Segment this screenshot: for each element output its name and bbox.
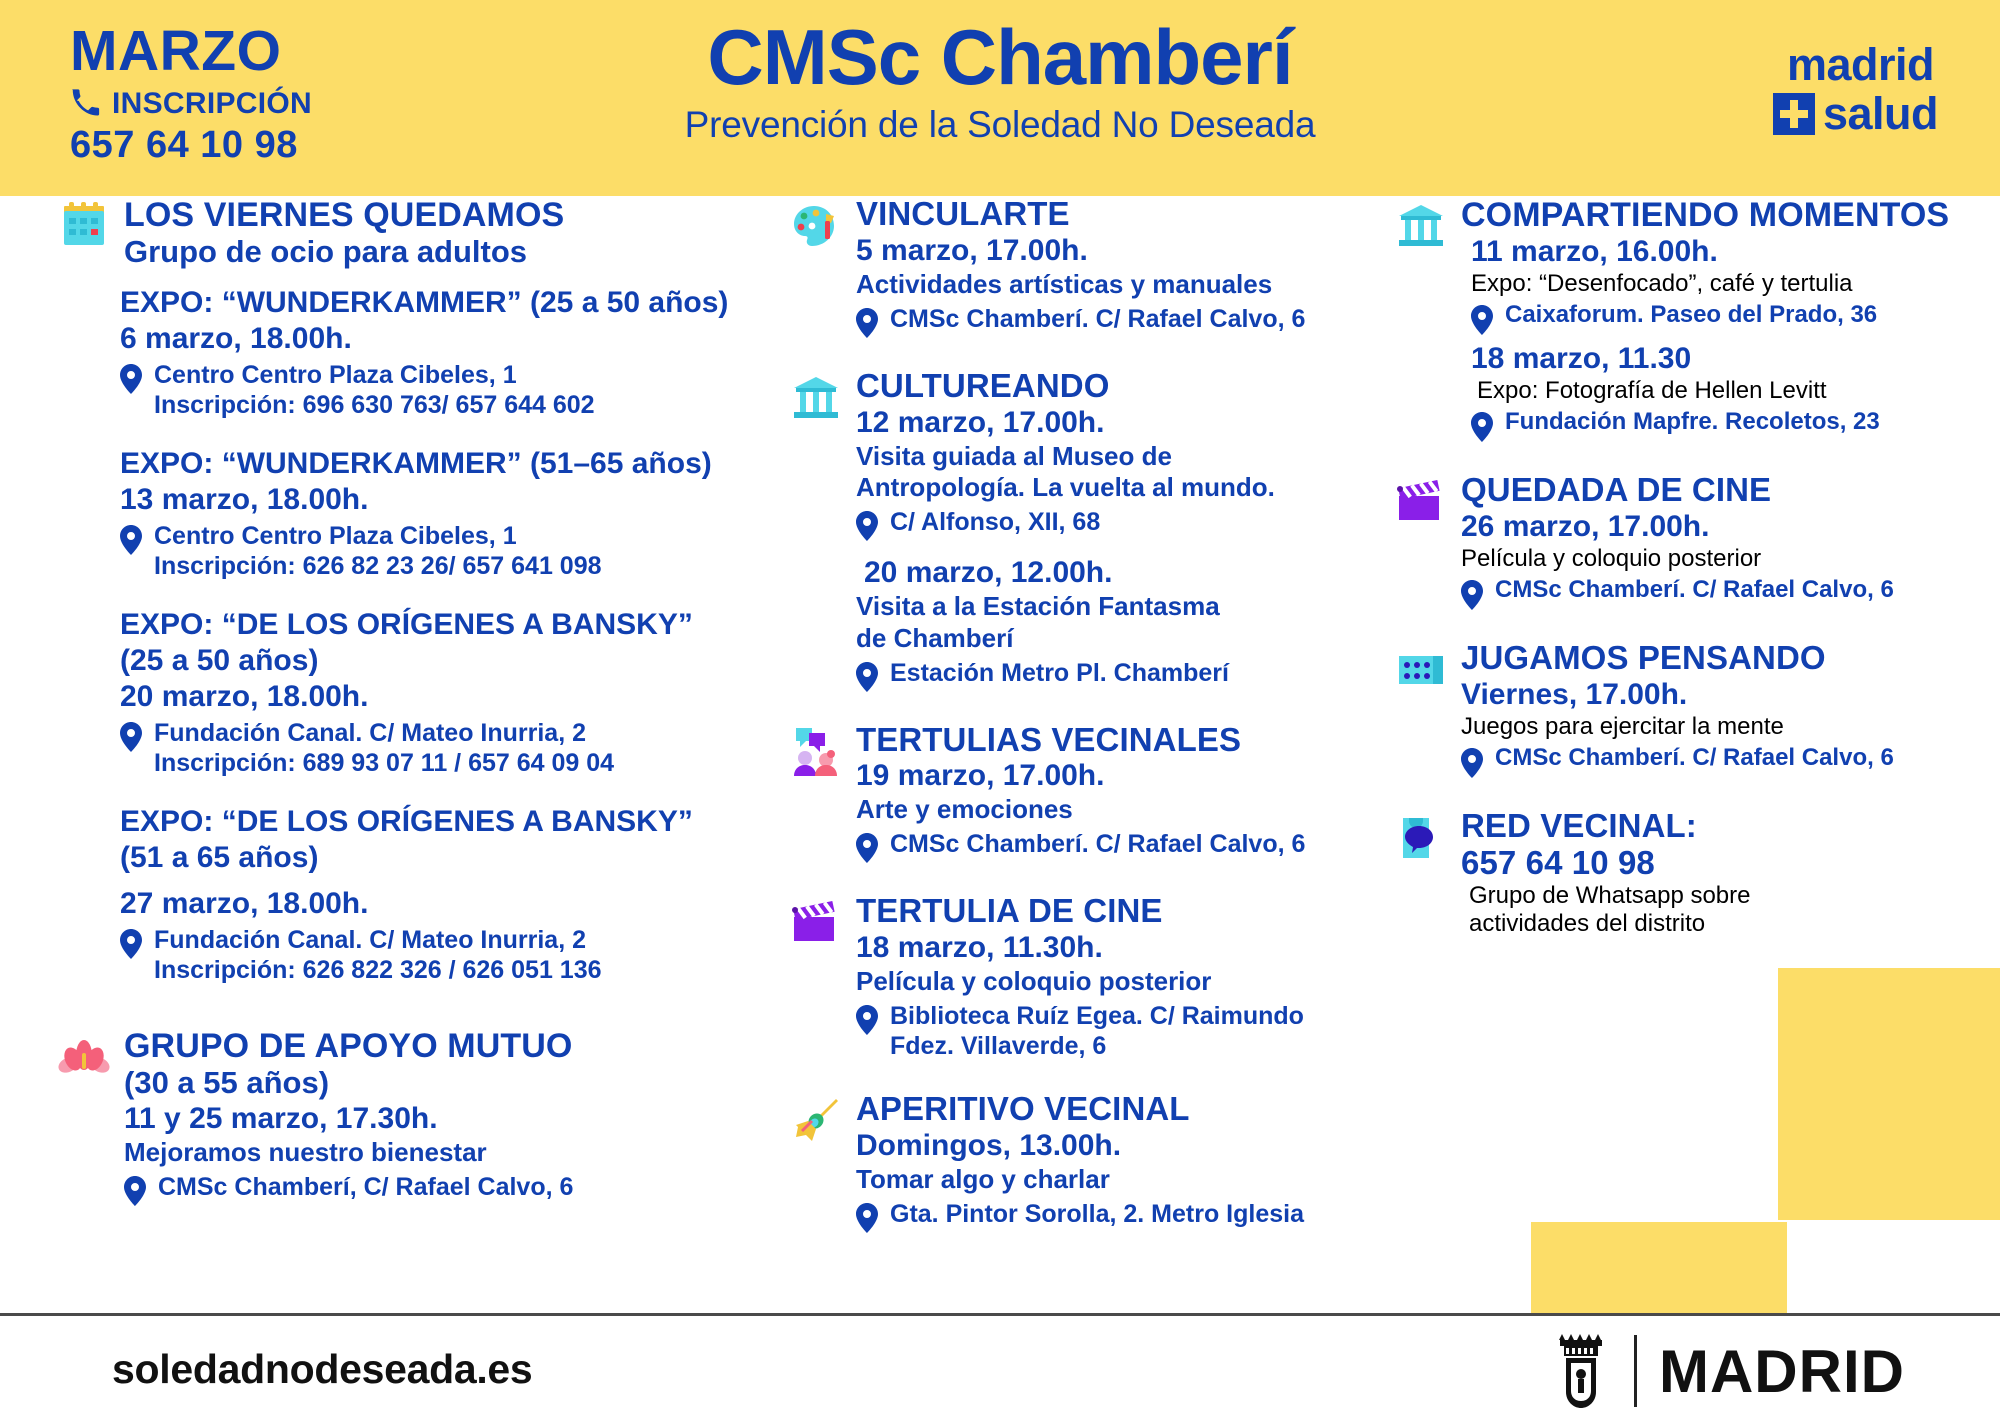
museum-icon [1395,200,1447,252]
food-skewer-icon [790,1095,842,1147]
location-pin-icon [856,511,878,541]
location-pin-icon [856,308,878,338]
block-title: COMPARTIENDO MOMENTOS [1461,196,1975,234]
yellow-decor-square-large [1778,968,2000,1220]
location-pin-icon [856,1203,878,1233]
block-location: Caixaforum. Paseo del Prado, 36 [1505,301,1877,330]
block-subtitle: Grupo de ocio para adultos [124,234,758,271]
block-location: CMSc Chamberí. C/ Rafael Calvo, 6 [1495,576,1894,605]
block-location: Gta. Pintor Sorolla, 2. Metro Iglesia [890,1199,1304,1229]
calendar-icon [58,200,110,252]
block-location: CMSc Chamberí. C/ Rafael Calvo, 6 [890,829,1305,859]
event-name: EXPO: “DE LOS ORÍGENES A BANSKY” [120,607,758,643]
block-title-2: 657 64 10 98 [1461,845,1975,882]
column-2: VINCULARTE 5 marzo, 17.00h. Actividades … [790,196,1350,1237]
poster-footer: soledadnodeseada.es [0,1316,2000,1414]
event-item: EXPO: “WUNDERKAMMER” (51–65 años) 13 mar… [120,446,758,581]
block-desc: Visita guiada al Museo de [856,441,1350,473]
block-location-b: Estación Metro Pl. Chamberí [890,658,1229,688]
header-left-block: MARZO INSCRIPCIÓN 657 64 10 98 [70,22,312,167]
block-title: QUEDADA DE CINE [1461,472,1975,509]
block-subtitle: (30 a 55 años) [124,1065,758,1102]
location-pin-icon [856,833,878,863]
clapperboard-icon [1395,476,1447,528]
event-date: 13 marzo, 18.00h. [120,482,758,518]
event-date: 20 marzo, 18.00h. [120,679,758,715]
madrid-salud-logo: madrid salud [1773,42,1938,136]
block-desc: Juegos para ejercitar la mente [1461,713,1975,741]
block-title: CULTUREANDO [856,368,1350,405]
column-1: LOS VIERNES QUEDAMOS Grupo de ocio para … [58,196,758,1210]
block-title: TERTULIAS VECINALES [856,722,1350,759]
block-cultureando: CULTUREANDO 12 marzo, 17.00h. Visita gui… [790,368,1350,692]
event-name-2: (51 a 65 años) [120,840,758,876]
inscription-phone: 657 64 10 98 [70,124,312,167]
location-pin-icon [120,525,142,555]
location-pin-icon [124,1176,146,1206]
location-pin-icon [1461,748,1483,778]
logo-madrid-text: madrid [1773,42,1938,87]
content-columns: LOS VIERNES QUEDAMOS Grupo de ocio para … [0,196,2000,1286]
block-grupo-de-apoyo-mutuo: GRUPO DE APOYO MUTUO (30 a 55 años) 11 y… [58,1027,758,1206]
block-date: Domingos, 13.00h. [856,1128,1350,1164]
location-pin-icon [1461,580,1483,610]
poster-header: MARZO INSCRIPCIÓN 657 64 10 98 CMSc Cham… [0,0,2000,196]
block-location-2: Fdez. Villaverde, 6 [890,1031,1304,1061]
block-desc: Expo: “Desenfocado”, café y tertulia [1471,270,1975,298]
block-date: 5 marzo, 17.00h. [856,233,1350,269]
logo-salud-text: salud [1823,91,1938,136]
block-red-vecinal: RED VECINAL: 657 64 10 98 Grupo de Whats… [1395,808,1975,938]
month-label: MARZO [70,22,312,82]
block-los-viernes-quedamos: LOS VIERNES QUEDAMOS Grupo de ocio para … [58,196,758,985]
location-pin-icon [856,1005,878,1035]
block-vincularte: VINCULARTE 5 marzo, 17.00h. Actividades … [790,196,1350,338]
block-date: 11 marzo, 16.00h. [1471,234,1975,270]
block-title: JUGAMOS PENSANDO [1461,640,1975,677]
madrid-label: MADRID [1659,1337,1905,1406]
block-jugamos-pensando: JUGAMOS PENSANDO Viernes, 17.00h. Juegos… [1395,640,1975,778]
block-date: 19 marzo, 17.00h. [856,758,1350,794]
block-location: Biblioteca Ruíz Egea. C/ Raimundo [890,1001,1304,1031]
speech-people-icon [790,726,842,778]
whatsapp-phone-icon [1395,812,1447,864]
block-quedada-de-cine: QUEDADA DE CINE 26 marzo, 17.00h. Pelícu… [1395,472,1975,610]
medical-cross-icon [1773,93,1815,135]
event-location-2: Inscripción: 696 630 763/ 657 644 602 [154,390,595,420]
block-desc: Arte y emociones [856,794,1350,826]
block-aperitivo-vecinal: APERITIVO VECINAL Domingos, 13.00h. Toma… [790,1091,1350,1233]
block-desc-2: Antropología. La vuelta al mundo. [856,472,1350,504]
event-date: 6 marzo, 18.00h. [120,321,758,357]
block-desc: Grupo de Whatsapp sobre [1469,882,1975,910]
dice-icon [1395,644,1447,696]
event-name: EXPO: “WUNDERKAMMER” (51–65 años) [120,446,758,482]
location-pin-icon [120,722,142,752]
location-pin-icon [120,929,142,959]
block-tertulia-de-cine: TERTULIA DE CINE 18 marzo, 11.30h. Pelíc… [790,893,1350,1061]
column-3: COMPARTIENDO MOMENTOS 11 marzo, 16.00h. … [1395,196,1975,942]
event-location: Centro Centro Plaza Cibeles, 1 [154,360,595,390]
block-desc: Actividades artísticas y manuales [856,269,1350,301]
inscription-row: INSCRIPCIÓN [70,87,312,122]
event-name: EXPO: “DE LOS ORÍGENES A BANSKY” [120,804,758,840]
event-location: Fundación Canal. C/ Mateo Inurria, 2 [154,925,602,955]
location-pin-icon [1471,412,1493,442]
block-location: CMSc Chamberí. C/ Rafael Calvo, 6 [1495,744,1894,773]
block-title: TERTULIA DE CINE [856,893,1350,930]
block-title: RED VECINAL: [1461,808,1975,845]
palette-icon [790,200,842,252]
block-location: CMSc Chamberí. C/ Rafael Calvo, 6 [890,304,1305,334]
block-location: C/ Alfonso, XII, 68 [890,507,1100,537]
block-desc-b-2: de Chamberí [856,623,1350,655]
block-date-b: 20 marzo, 12.00h. [864,555,1350,591]
inscription-label: INSCRIPCIÓN [112,87,312,121]
event-name-2: (25 a 50 años) [120,643,758,679]
block-compartiendo-momentos: COMPARTIENDO MOMENTOS 11 marzo, 16.00h. … [1395,196,1975,442]
event-location: Fundación Canal. C/ Mateo Inurria, 2 [154,718,614,748]
block-desc: Mejoramos nuestro bienestar [124,1137,758,1169]
block-tertulias-vecinales: TERTULIAS VECINALES 19 marzo, 17.00h. Ar… [790,722,1350,864]
block-desc-b: Expo: Fotografía de Hellen Levitt [1477,377,1975,405]
block-date: 11 y 25 marzo, 17.30h. [124,1101,758,1137]
block-title: APERITIVO VECINAL [856,1091,1350,1128]
block-date-b: 18 marzo, 11.30 [1471,341,1975,377]
block-date: 26 marzo, 17.00h. [1461,509,1975,545]
location-pin-icon [120,364,142,394]
event-location-2: Inscripción: 689 93 07 11 / 657 64 09 04 [154,748,614,778]
block-desc-2: actividades del distrito [1469,910,1975,938]
clapperboard-icon [790,897,842,949]
madrid-crest-icon [1550,1332,1612,1410]
website-url[interactable]: soledadnodeseada.es [112,1346,532,1393]
block-location: CMSc Chamberí, C/ Rafael Calvo, 6 [158,1172,573,1202]
block-desc: Película y coloquio posterior [856,966,1350,998]
event-location: Centro Centro Plaza Cibeles, 1 [154,521,602,551]
logo-divider [1634,1335,1637,1407]
block-location-b: Fundación Mapfre. Recoletos, 23 [1505,408,1880,437]
event-item: EXPO: “DE LOS ORÍGENES A BANSKY” (25 a 5… [120,607,758,778]
event-item: EXPO: “DE LOS ORÍGENES A BANSKY” (51 a 6… [120,804,758,985]
event-name: EXPO: “WUNDERKAMMER” (25 a 50 años) [120,285,758,321]
poster-root: MARZO INSCRIPCIÓN 657 64 10 98 CMSc Cham… [0,0,2000,1414]
block-title: GRUPO DE APOYO MUTUO [124,1027,758,1065]
yellow-decor-rect-small [1531,1222,1787,1313]
event-location-2: Inscripción: 626 82 23 26/ 657 641 098 [154,551,602,581]
museum-icon [790,372,842,424]
location-pin-icon [1471,305,1493,335]
block-desc: Tomar algo y charlar [856,1164,1350,1196]
lotus-icon [58,1031,110,1083]
event-location-2: Inscripción: 626 822 326 / 626 051 136 [154,955,602,985]
block-desc-b: Visita a la Estación Fantasma [856,591,1350,623]
block-desc: Película y coloquio posterior [1461,545,1975,573]
event-item: EXPO: “WUNDERKAMMER” (25 a 50 años) 6 ma… [120,285,758,420]
block-date: 12 marzo, 17.00h. [856,405,1350,441]
block-date: Viernes, 17.00h. [1461,677,1975,713]
block-title: VINCULARTE [856,196,1350,233]
event-date: 27 marzo, 18.00h. [120,886,758,922]
madrid-city-logo: MADRID [1550,1332,1905,1410]
location-pin-icon [856,662,878,692]
block-title: LOS VIERNES QUEDAMOS [124,196,758,234]
phone-icon [70,87,100,122]
block-date: 18 marzo, 11.30h. [856,930,1350,966]
